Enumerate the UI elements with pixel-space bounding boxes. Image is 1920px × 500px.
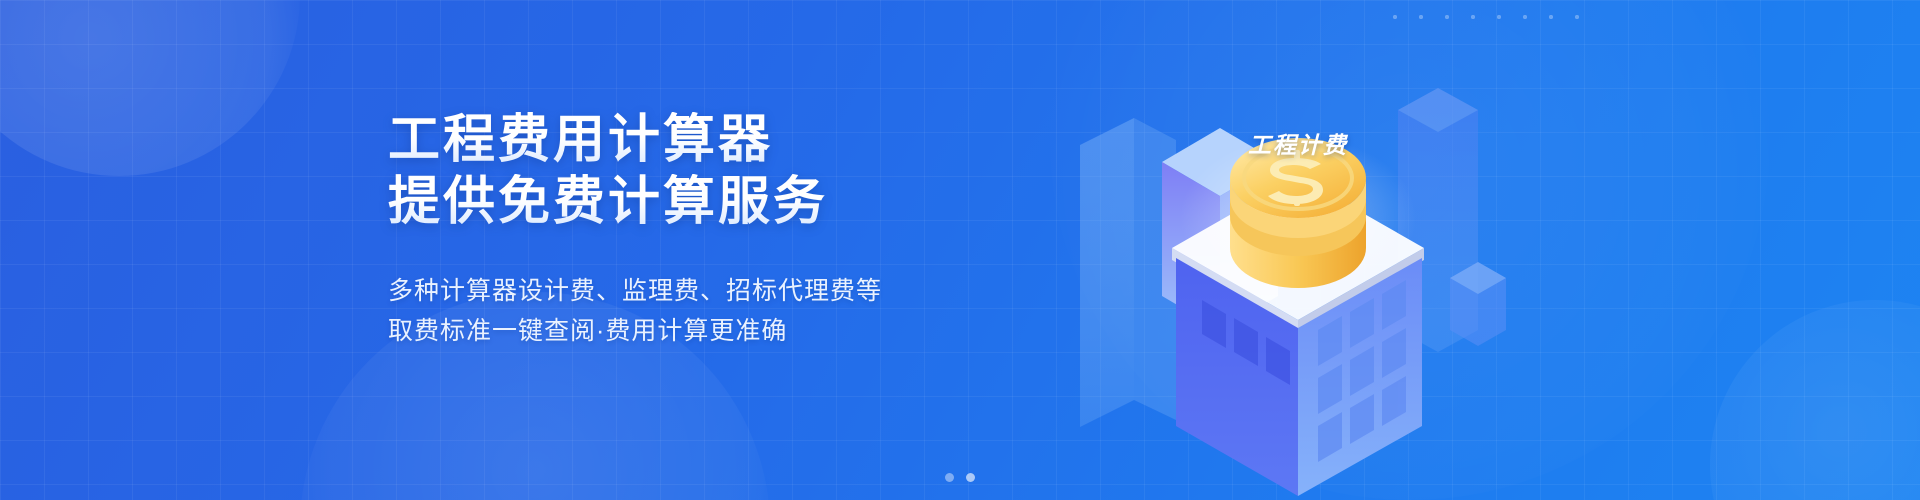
carousel-dots[interactable] <box>0 473 1920 482</box>
subtitle-block: 多种计算器设计费、监理费、招标代理费等 取费标准一键查阅·费用计算更准确 <box>388 271 1008 351</box>
background-circle-bottom-right <box>1710 300 1920 500</box>
subtitle-line-1: 多种计算器设计费、监理费、招标代理费等 <box>388 271 1008 311</box>
hero-banner: 工程费用计算器 提供免费计算服务 多种计算器设计费、监理费、招标代理费等 取费标… <box>0 0 1920 500</box>
banner-copy-block: 工程费用计算器 提供免费计算服务 多种计算器设计费、监理费、招标代理费等 取费标… <box>388 112 1008 351</box>
background-bar-small <box>1450 262 1506 346</box>
headline-line-2: 提供免费计算服务 <box>388 174 1008 232</box>
carousel-dot-1[interactable] <box>945 473 954 482</box>
isometric-scene-svg <box>1080 0 1700 500</box>
illustration-badge-label: 工程计费 <box>1248 126 1348 160</box>
hero-illustration: 工程计费 <box>1080 0 1700 500</box>
headline-line-1: 工程费用计算器 <box>388 112 1008 170</box>
background-glass-slab <box>1080 118 1176 432</box>
background-circle-top-left <box>0 0 300 176</box>
subtitle-line-2: 取费标准一键查阅·费用计算更准确 <box>388 311 1008 351</box>
gold-coin-stack <box>1230 138 1366 288</box>
carousel-dot-2[interactable] <box>966 473 975 482</box>
